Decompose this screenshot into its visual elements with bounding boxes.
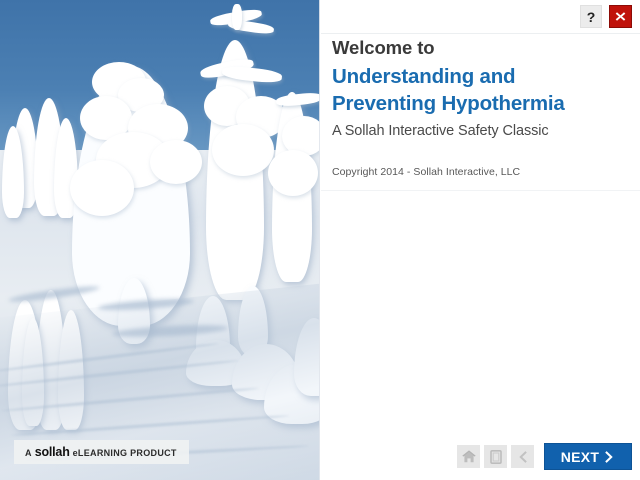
snow-clump — [212, 124, 274, 176]
welcome-line: Welcome to — [332, 36, 632, 61]
page-document-icon — [490, 450, 502, 464]
logo-prefix: A — [25, 448, 32, 458]
content-divider — [321, 190, 640, 191]
help-button[interactable]: ? — [580, 5, 602, 28]
nav-button-group: NEXT — [457, 443, 632, 470]
content-panel: ? Welcome to Understanding and Preventin… — [321, 0, 640, 480]
window-controls: ? — [580, 5, 632, 28]
home-button[interactable] — [457, 445, 480, 468]
course-tagline: A Sollah Interactive Safety Classic — [332, 123, 632, 139]
question-mark-icon: ? — [587, 10, 596, 24]
course-player-window: A sollah eLEARNING PRODUCT ? Welcome to … — [0, 0, 640, 480]
close-x-icon — [614, 10, 627, 23]
snow-clump — [70, 160, 134, 216]
next-button[interactable]: NEXT — [544, 443, 632, 470]
snow-clump — [150, 140, 202, 184]
next-button-label: NEXT — [561, 449, 600, 465]
notes-button[interactable] — [484, 445, 507, 468]
close-button[interactable] — [609, 5, 632, 28]
back-button[interactable] — [511, 445, 534, 468]
course-title: Understanding and Preventing Hypothermia — [332, 63, 620, 117]
title-block: Welcome to Understanding and Preventing … — [332, 36, 632, 139]
title-photo: A sollah eLEARNING PRODUCT — [0, 0, 320, 480]
logo-brand: sollah — [35, 445, 70, 459]
snow-branch — [232, 4, 242, 30]
photo-right-edge — [319, 0, 320, 480]
chevron-right-icon — [604, 450, 615, 464]
sollah-elearning-logo: A sollah eLEARNING PRODUCT — [14, 440, 189, 464]
top-bar: ? — [321, 0, 640, 34]
chevron-left-icon — [517, 450, 528, 464]
logo-suffix: eLEARNING PRODUCT — [73, 448, 177, 458]
snow-clump — [268, 150, 318, 196]
copyright-text: Copyright 2014 - Sollah Interactive, LLC — [332, 166, 520, 178]
player-navigation-bar: NEXT — [321, 442, 640, 470]
home-icon — [462, 450, 476, 463]
